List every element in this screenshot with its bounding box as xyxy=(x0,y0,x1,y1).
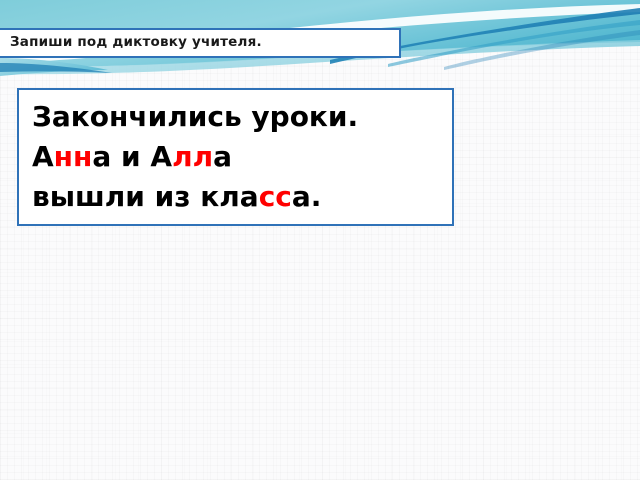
instruction-box: Запиши под диктовку учителя. xyxy=(0,28,401,58)
slide-canvas: Запиши под диктовку учителя. Закончились… xyxy=(0,0,640,480)
highlighted-letters: нн xyxy=(54,140,93,173)
highlighted-letters: лл xyxy=(172,140,213,173)
sentence-text: вышли из кла xyxy=(32,180,259,213)
sentence-text: Закончились уроки. xyxy=(32,100,358,133)
sentence-line: вышли из класса. xyxy=(32,177,452,217)
sentence-box: Закончились уроки. Анна и Алла вышли из … xyxy=(17,88,454,226)
sentence-line: Закончились уроки. xyxy=(32,97,452,137)
wave-swoosh-left xyxy=(0,58,108,76)
background-texture xyxy=(0,0,640,480)
highlighted-letters: сс xyxy=(259,180,292,213)
sentence-text: а и А xyxy=(92,140,172,173)
sentence-line: Анна и Алла xyxy=(32,137,452,177)
sentence-text: а. xyxy=(292,180,322,213)
sentence-text: а xyxy=(213,140,232,173)
sentence-text: А xyxy=(32,140,54,173)
wave-swoosh-left-accent xyxy=(0,63,112,73)
wave-stripe-dark-2 xyxy=(388,20,640,67)
instruction-text: Запиши под диктовку учителя. xyxy=(0,36,262,50)
wave-stripe-dark-3 xyxy=(444,30,640,70)
